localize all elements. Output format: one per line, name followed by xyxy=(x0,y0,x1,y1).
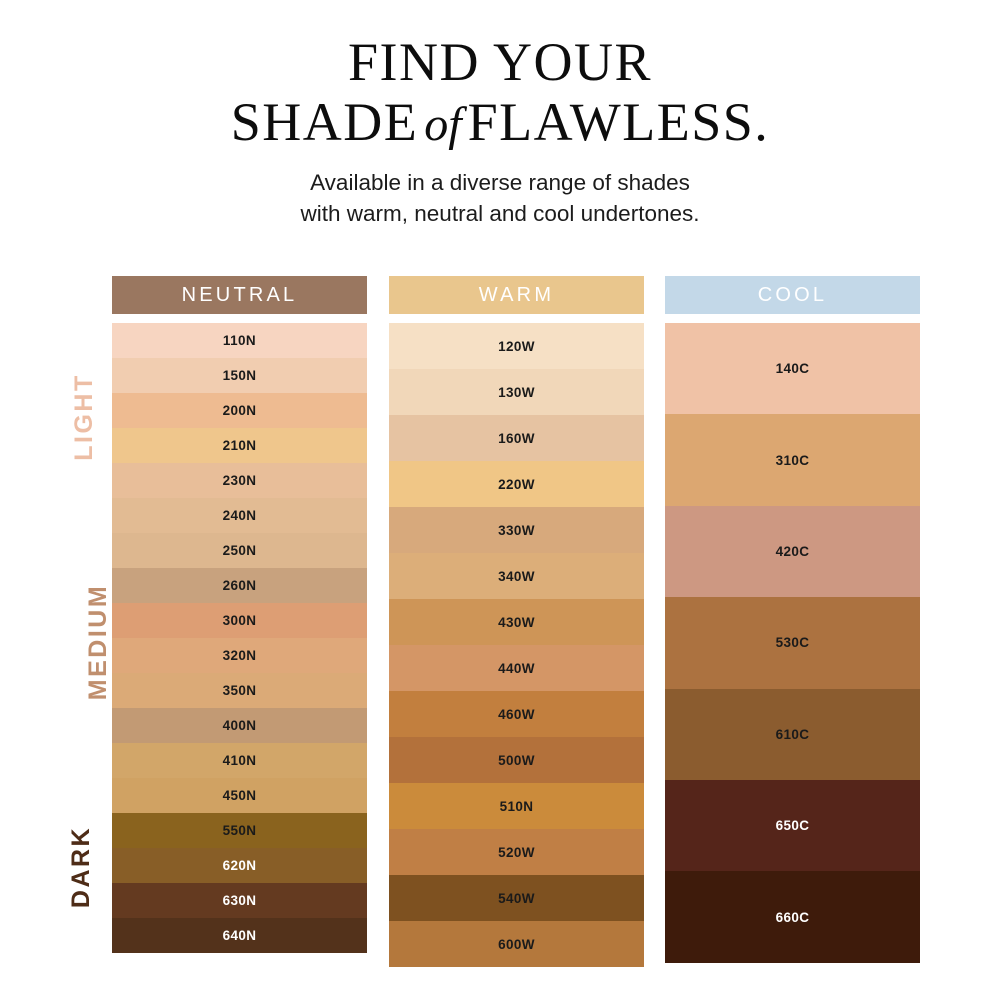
shade-swatch-label: 550N xyxy=(223,823,257,838)
page-subtitle: Available in a diverse range of shades w… xyxy=(0,167,1000,229)
shade-swatch[interactable]: 450N xyxy=(112,778,367,813)
shade-swatch[interactable]: 610C xyxy=(665,689,920,780)
page-title: FIND YOUR SHADEofFLAWLESS. xyxy=(0,34,1000,150)
subtitle-line-1: Available in a diverse range of shades xyxy=(0,167,1000,198)
headline-of-word: of xyxy=(418,98,467,151)
swatch-list-neutral: 110N150N200N210N230N240N250N260N300N320N… xyxy=(112,323,367,963)
shade-swatch[interactable]: 220W xyxy=(389,461,644,507)
shade-swatch-label: 460W xyxy=(498,707,535,722)
shade-swatch-label: 660C xyxy=(776,910,810,925)
shade-swatch-label: 650C xyxy=(776,818,810,833)
column-header-neutral[interactable]: NEUTRAL xyxy=(112,276,367,314)
shade-swatch-label: 430W xyxy=(498,615,535,630)
shade-swatch-label: 530C xyxy=(776,635,810,650)
shade-swatch-label: 210N xyxy=(223,438,257,453)
shade-swatch[interactable]: 520W xyxy=(389,829,644,875)
depth-level-labels: LIGHTMEDIUMDARK xyxy=(40,322,102,962)
shade-swatch[interactable]: 200N xyxy=(112,393,367,428)
shade-swatch[interactable]: 250N xyxy=(112,533,367,568)
headline-line-2: SHADEofFLAWLESS. xyxy=(0,94,1000,150)
shade-swatch[interactable]: 120W xyxy=(389,323,644,369)
shade-swatch[interactable]: 130W xyxy=(389,369,644,415)
shade-swatch-label: 300N xyxy=(223,613,257,628)
shade-swatch[interactable]: 160W xyxy=(389,415,644,461)
shade-swatch[interactable]: 510N xyxy=(389,783,644,829)
subtitle-line-2: with warm, neutral and cool undertones. xyxy=(0,198,1000,229)
shade-swatch[interactable]: 210N xyxy=(112,428,367,463)
shade-finder-page: FIND YOUR SHADEofFLAWLESS. Available in … xyxy=(0,0,1000,1000)
swatch-list-warm: 120W130W160W220W330W340W430W440W460W500W… xyxy=(389,323,644,963)
headline-shade-word: SHADE xyxy=(231,92,419,152)
shade-swatch-label: 400N xyxy=(223,718,257,733)
shade-swatch-label: 200N xyxy=(223,403,257,418)
shade-swatch-label: 250N xyxy=(223,543,257,558)
shade-swatch-label: 330W xyxy=(498,523,535,538)
shade-swatch-label: 350N xyxy=(223,683,257,698)
depth-label-light: LIGHT xyxy=(40,322,102,512)
shade-swatch-label: 620N xyxy=(223,858,257,873)
shade-swatch[interactable]: 550N xyxy=(112,813,367,848)
shade-swatch-label: 420C xyxy=(776,544,810,559)
shade-swatch[interactable]: 530C xyxy=(665,597,920,688)
shade-swatch-label: 610C xyxy=(776,727,810,742)
shade-swatch-label: 630N xyxy=(223,893,257,908)
shade-swatch-label: 500W xyxy=(498,753,535,768)
depth-label-medium: MEDIUM xyxy=(40,512,102,772)
shade-swatch-label: 520W xyxy=(498,845,535,860)
shade-swatch[interactable]: 650C xyxy=(665,780,920,871)
shade-swatch-label: 340W xyxy=(498,569,535,584)
shade-swatch[interactable]: 260N xyxy=(112,568,367,603)
shade-swatch-label: 510N xyxy=(500,799,534,814)
shade-swatch[interactable]: 330W xyxy=(389,507,644,553)
shade-swatch[interactable]: 460W xyxy=(389,691,644,737)
shade-swatch-label: 310C xyxy=(776,453,810,468)
shade-chart: LIGHTMEDIUMDARK NEUTRAL110N150N200N210N2… xyxy=(0,276,1000,966)
shade-swatch[interactable]: 150N xyxy=(112,358,367,393)
shade-column-cool: COOL140C310C420C530C610C650C660C xyxy=(665,276,920,963)
shade-swatch-label: 600W xyxy=(498,937,535,952)
shade-swatch-label: 220W xyxy=(498,477,535,492)
shade-swatch-label: 230N xyxy=(223,473,257,488)
column-header-cool[interactable]: COOL xyxy=(665,276,920,314)
shade-swatch-label: 320N xyxy=(223,648,257,663)
shade-swatch-label: 150N xyxy=(223,368,257,383)
shade-column-warm: WARM120W130W160W220W330W340W430W440W460W… xyxy=(389,276,644,963)
depth-label-dark: DARK xyxy=(40,772,102,962)
shade-swatch[interactable]: 440W xyxy=(389,645,644,691)
shade-swatch[interactable]: 110N xyxy=(112,323,367,358)
shade-swatch-label: 120W xyxy=(498,339,535,354)
shade-swatch[interactable]: 500W xyxy=(389,737,644,783)
headline-flawless-word: FLAWLESS. xyxy=(468,92,770,152)
shade-swatch-label: 640N xyxy=(223,928,257,943)
shade-swatch-label: 240N xyxy=(223,508,257,523)
headline-line-1: FIND YOUR xyxy=(0,34,1000,90)
shade-swatch[interactable]: 320N xyxy=(112,638,367,673)
shade-swatch[interactable]: 240N xyxy=(112,498,367,533)
shade-swatch[interactable]: 600W xyxy=(389,921,644,967)
shade-swatch-label: 130W xyxy=(498,385,535,400)
shade-swatch[interactable]: 340W xyxy=(389,553,644,599)
shade-swatch-label: 260N xyxy=(223,578,257,593)
undertone-columns: NEUTRAL110N150N200N210N230N240N250N260N3… xyxy=(112,276,922,966)
shade-swatch-label: 540W xyxy=(498,891,535,906)
shade-swatch[interactable]: 430W xyxy=(389,599,644,645)
swatch-list-cool: 140C310C420C530C610C650C660C xyxy=(665,323,920,963)
shade-swatch[interactable]: 660C xyxy=(665,871,920,962)
shade-swatch[interactable]: 410N xyxy=(112,743,367,778)
shade-swatch-label: 160W xyxy=(498,431,535,446)
shade-swatch[interactable]: 400N xyxy=(112,708,367,743)
shade-swatch[interactable]: 620N xyxy=(112,848,367,883)
shade-swatch[interactable]: 350N xyxy=(112,673,367,708)
shade-swatch-label: 450N xyxy=(223,788,257,803)
shade-swatch[interactable]: 640N xyxy=(112,918,367,953)
shade-swatch[interactable]: 630N xyxy=(112,883,367,918)
shade-swatch[interactable]: 140C xyxy=(665,323,920,414)
shade-swatch[interactable]: 420C xyxy=(665,506,920,597)
shade-swatch[interactable]: 230N xyxy=(112,463,367,498)
shade-swatch[interactable]: 300N xyxy=(112,603,367,638)
shade-swatch[interactable]: 540W xyxy=(389,875,644,921)
shade-swatch[interactable]: 310C xyxy=(665,414,920,505)
shade-column-neutral: NEUTRAL110N150N200N210N230N240N250N260N3… xyxy=(112,276,367,963)
shade-swatch-label: 110N xyxy=(223,333,256,348)
shade-swatch-label: 440W xyxy=(498,661,535,676)
column-header-warm[interactable]: WARM xyxy=(389,276,644,314)
shade-swatch-label: 410N xyxy=(223,753,257,768)
shade-swatch-label: 140C xyxy=(776,361,810,376)
